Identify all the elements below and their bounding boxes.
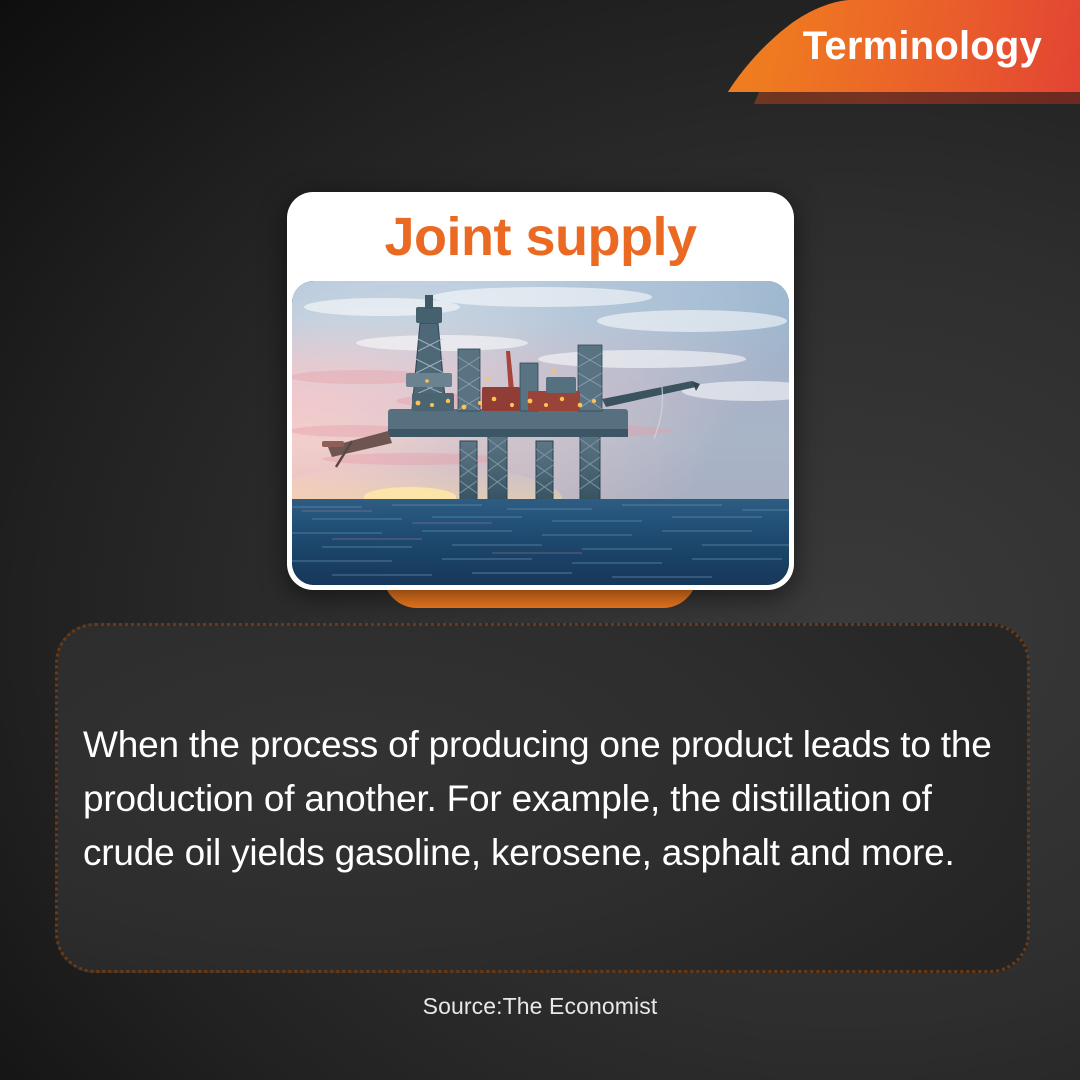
description-panel: When the process of producing one produc… <box>55 623 1030 973</box>
term-card: Joint supply <box>287 192 794 590</box>
terminology-banner: Terminology <box>650 0 1080 104</box>
oil-rig-illustration <box>292 281 789 585</box>
source-attribution: Source:The Economist <box>0 993 1080 1020</box>
offshore-oil-rig-photo <box>292 281 789 585</box>
description-text: When the process of producing one produc… <box>83 718 1013 880</box>
banner-label: Terminology <box>803 0 1042 92</box>
term-title: Joint supply <box>287 192 794 278</box>
